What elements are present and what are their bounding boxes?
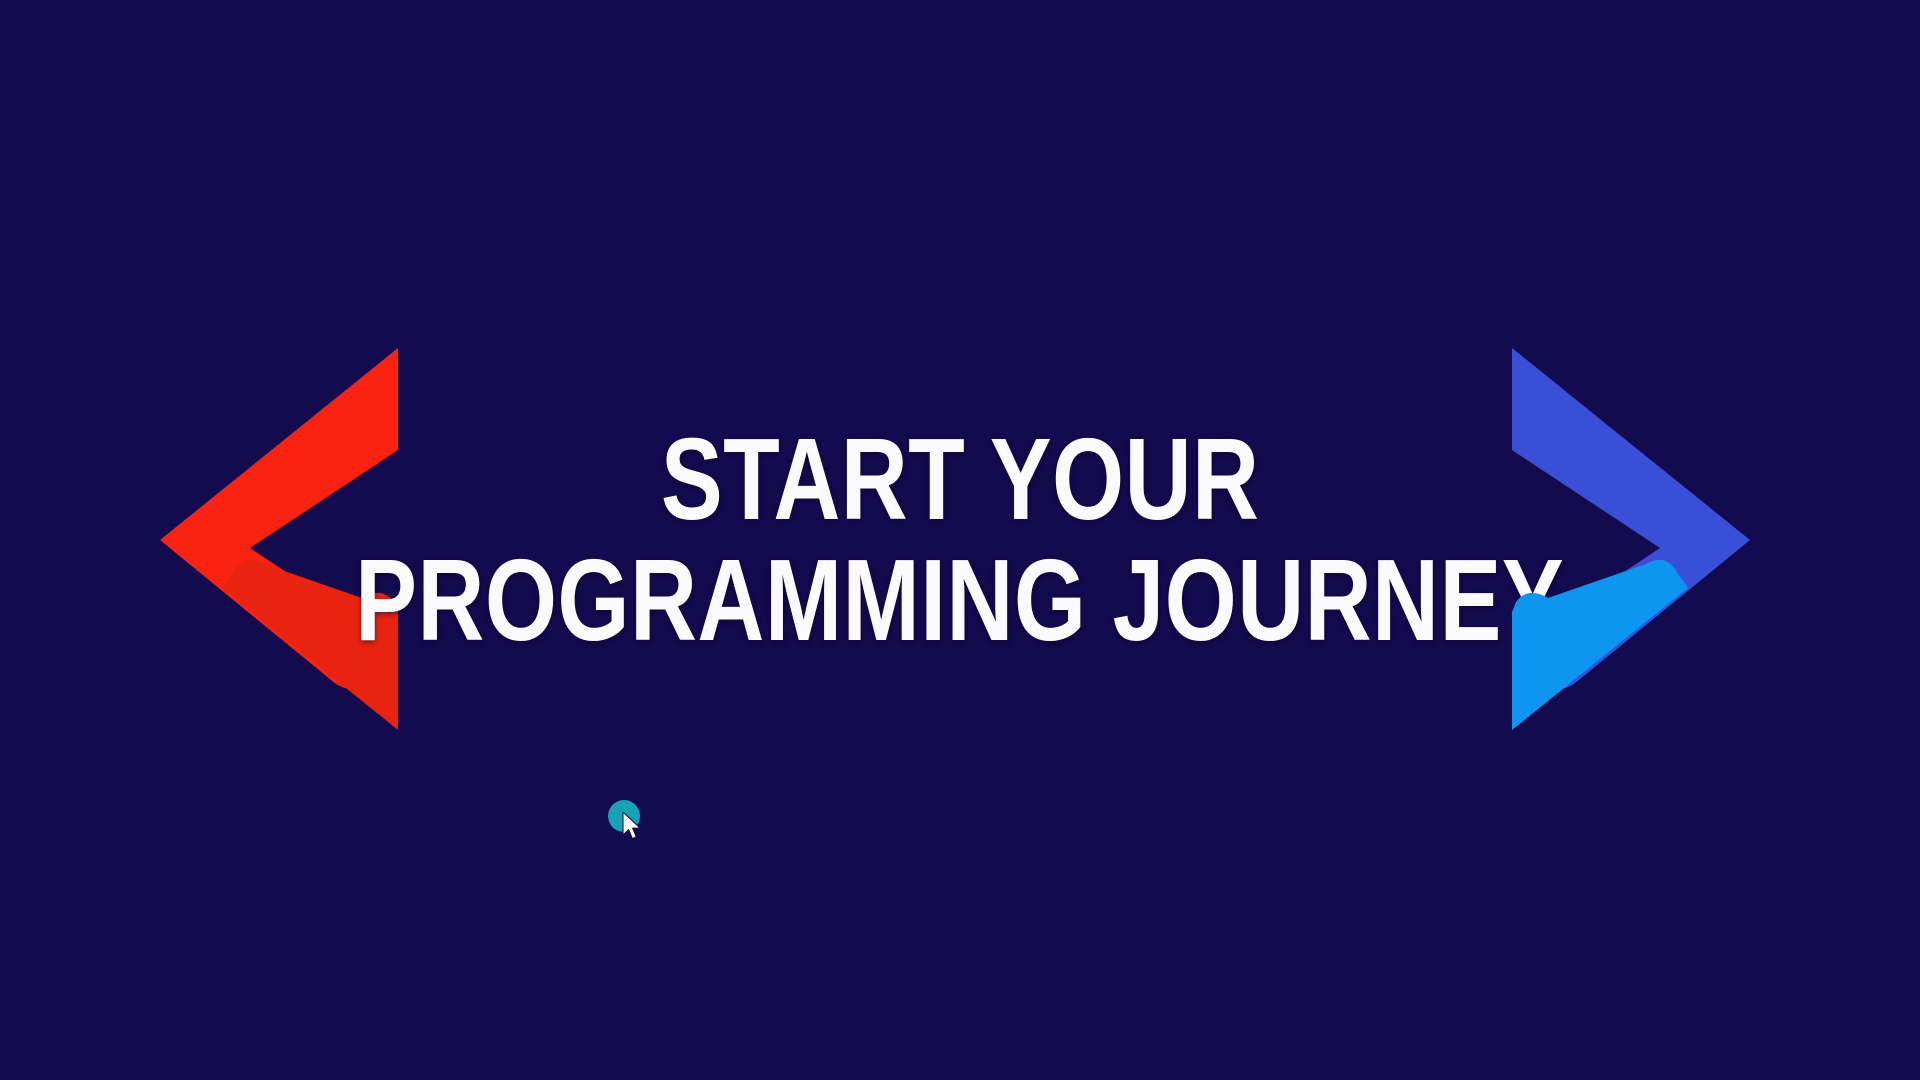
headline-line-1: START YOUR — [661, 426, 1260, 533]
chevron-right-icon — [1500, 330, 1760, 750]
mouse-cursor-icon — [622, 812, 646, 844]
chevron-right-lower-shape — [1512, 560, 1688, 730]
mouse-pointer — [604, 798, 660, 854]
slide-canvas: START YOUR PROGRAMMING JOURNEY — [0, 0, 1920, 1080]
hero-section: START YOUR PROGRAMMING JOURNEY — [0, 330, 1920, 750]
page-title: START YOUR PROGRAMMING JOURNEY — [400, 330, 1520, 750]
headline-line-2: PROGRAMMING JOURNEY — [356, 547, 1565, 654]
mouse-cursor-glyph — [622, 812, 646, 844]
chevron-right-graphic — [1500, 330, 1760, 750]
